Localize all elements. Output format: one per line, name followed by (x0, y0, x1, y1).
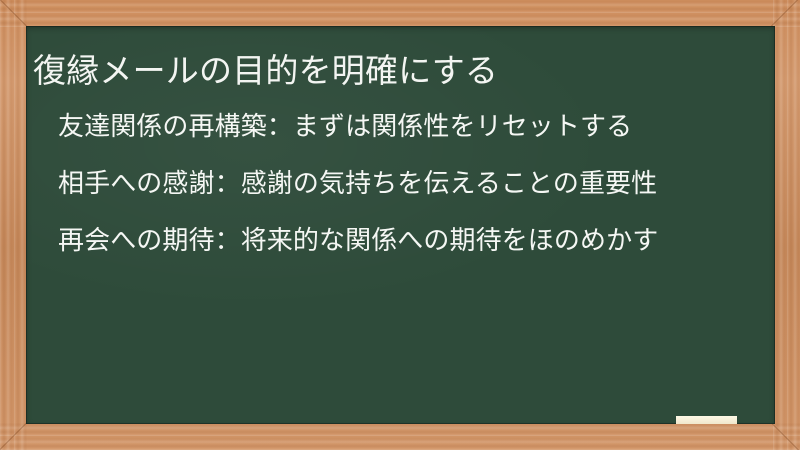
frame-rail-right (773, 0, 800, 450)
chalk-eraser (676, 416, 737, 424)
frame-rail-left (0, 0, 27, 450)
slide-title: 復縁メールの目的を明確にする (33, 50, 753, 92)
chalkboard-surface: 復縁メールの目的を明確にする 友達関係の再構築：まずは関係性をリセットする 相手… (26, 26, 775, 424)
chalkboard-slide: 復縁メールの目的を明確にする 友達関係の再構築：まずは関係性をリセットする 相手… (0, 0, 800, 450)
bullet-list: 友達関係の再構築：まずは関係性をリセットする 相手への感謝：感謝の気持ちを伝える… (58, 105, 723, 262)
bullet-item: 再会への期待：将来的な関係への期待をほのめかす (58, 219, 723, 262)
bullet-item: 友達関係の再構築：まずは関係性をリセットする (58, 105, 723, 148)
slide-content: 復縁メールの目的を明確にする 友達関係の再構築：まずは関係性をリセットする 相手… (26, 26, 775, 424)
frame-rail-top (0, 0, 800, 27)
bullet-item: 相手への感謝：感謝の気持ちを伝えることの重要性 (58, 162, 723, 205)
frame-rail-bottom (0, 423, 800, 450)
